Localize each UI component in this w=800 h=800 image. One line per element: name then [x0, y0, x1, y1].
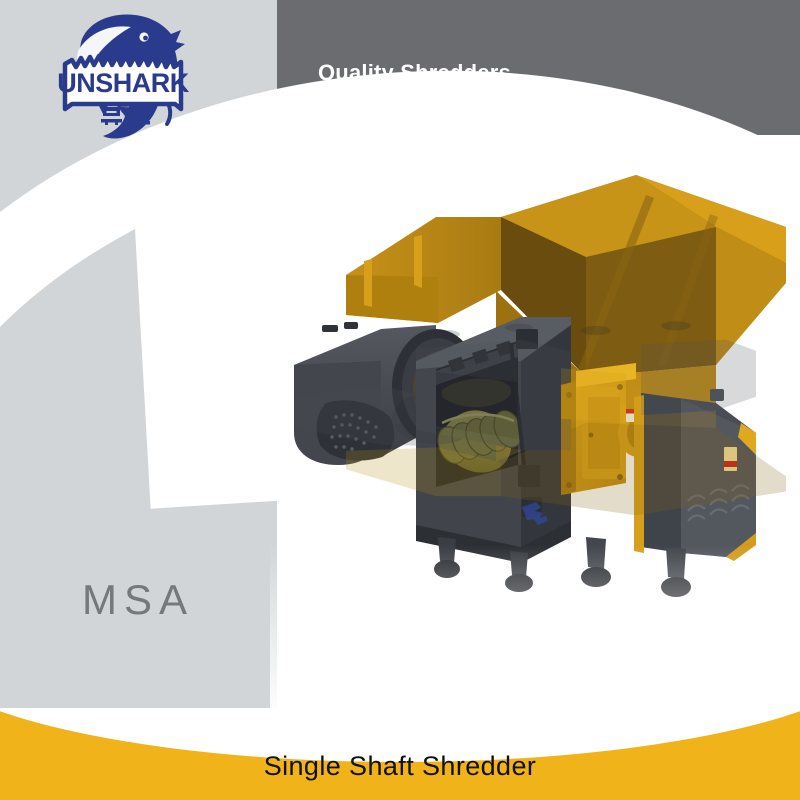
page-title: Quality Shredders: [318, 60, 511, 86]
logo-wordmark: UNSHARK: [57, 68, 190, 98]
product-showcase-page: UNSHARK Quality Shredders: [0, 0, 800, 800]
product-image: [286, 165, 786, 635]
bottom-banner: Single Shaft Shredder: [0, 708, 800, 800]
model-code-label: MSA: [82, 576, 194, 624]
banner-caption: Single Shaft Shredder: [0, 751, 800, 782]
unshark-logo[interactable]: UNSHARK: [45, 6, 195, 151]
